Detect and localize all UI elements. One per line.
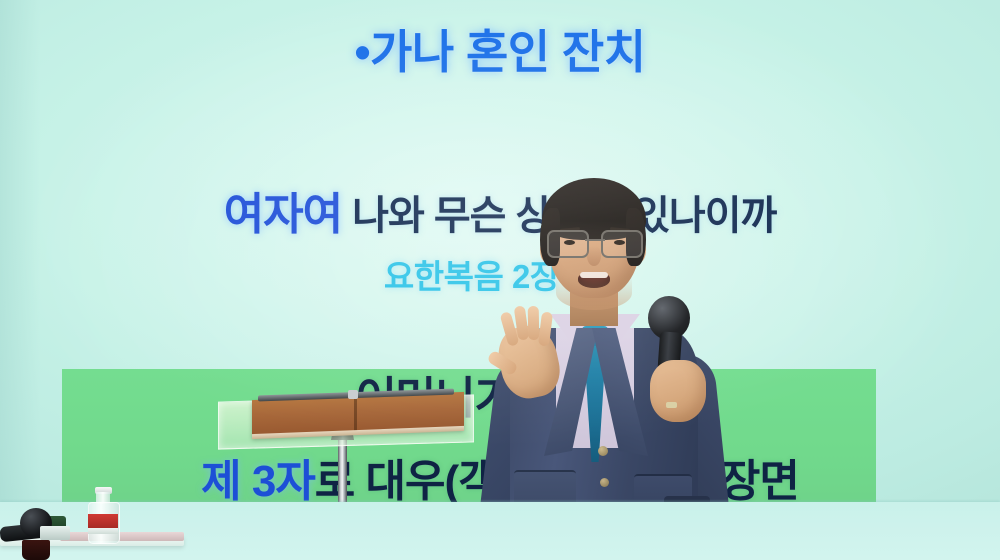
photo-scene: •가나 혼인 잔치 여자여나와 무슨 상관이 있나이까 요한복음 2장 4절 어… (0, 0, 1000, 560)
eyeglass-bridge (585, 239, 605, 241)
jacket-button-top (598, 446, 608, 456)
banner-line-two-highlight: 제 3자 (201, 457, 315, 506)
bible-spine (354, 396, 357, 434)
speaker-nose (587, 246, 601, 266)
stage-floor (0, 502, 1000, 560)
jacket-button-bottom (600, 478, 609, 487)
water-bottle-label (88, 514, 118, 528)
table-microphone-holder (40, 526, 70, 540)
speaker-eye-right (614, 240, 625, 245)
finger-ring (666, 402, 677, 408)
table-mat (60, 532, 184, 541)
slide-title: •가나 혼인 잔치 (0, 16, 1000, 82)
speaker-eye-left (564, 240, 575, 245)
hand-finger-three (528, 306, 540, 340)
speaker-chin (556, 276, 632, 310)
speaker-mic-hand (650, 360, 706, 422)
bible-clip (348, 390, 358, 399)
water-bottle-label-lower (88, 528, 118, 534)
drinking-cup (22, 540, 50, 560)
verse-highlight-text: 여자여 (224, 190, 342, 239)
